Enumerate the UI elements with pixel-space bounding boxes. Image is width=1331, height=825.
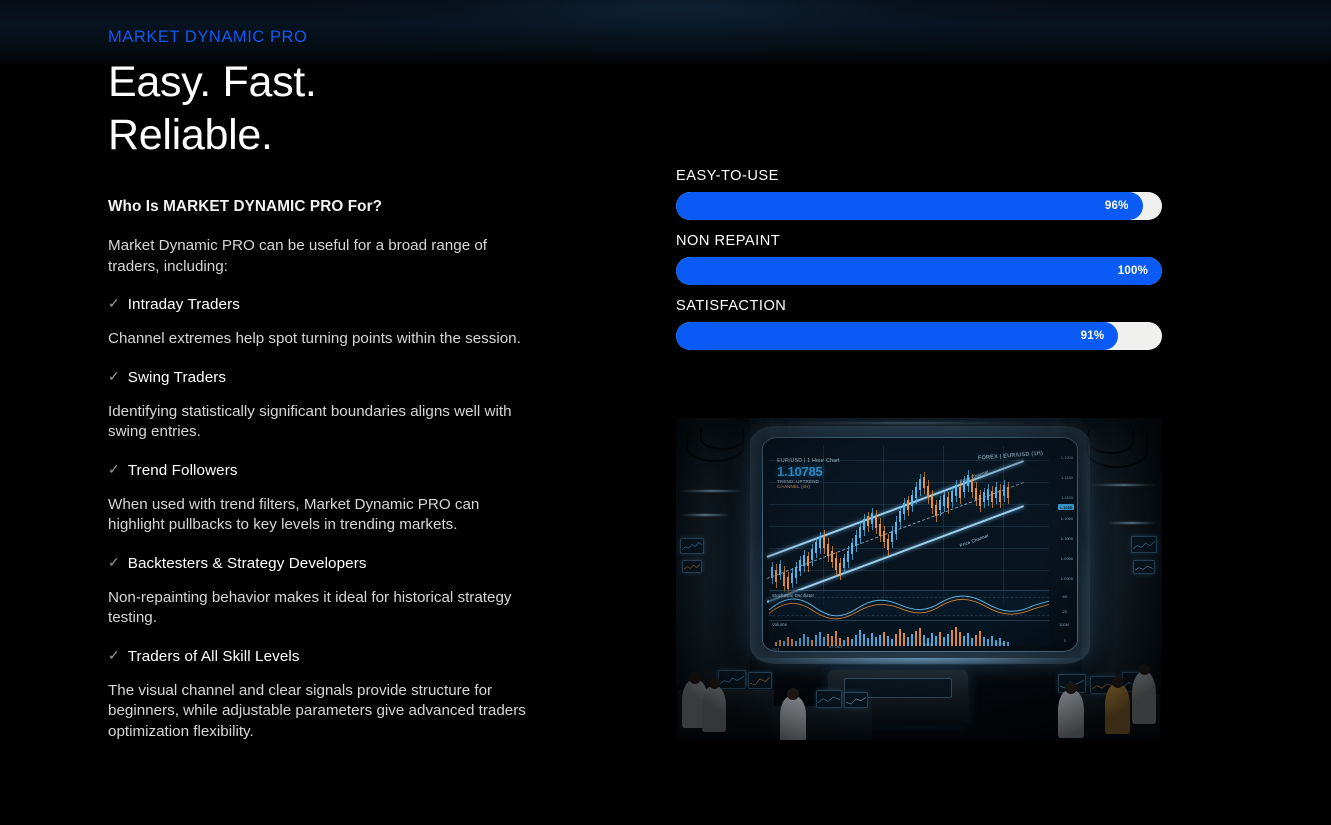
progress-value: 96% [1105, 200, 1143, 212]
candlestick [955, 480, 957, 502]
volume-bar [847, 637, 849, 646]
current-price-tag: 1.1085 [1058, 504, 1074, 510]
candlestick [1007, 482, 1009, 504]
candlestick [783, 566, 785, 592]
volume-bar [919, 628, 921, 646]
strip-light [1092, 484, 1156, 486]
candlestick [951, 486, 953, 508]
candlestick [839, 558, 841, 580]
volume-bar [959, 632, 961, 646]
desk-monitor-chart [720, 672, 744, 688]
candlestick [939, 496, 941, 516]
volume-bar [899, 629, 901, 646]
candlestick [943, 490, 945, 512]
stat-label: SATISFACTION [676, 298, 1162, 314]
audience-question: Who Is MARKET DYNAMIC PRO For? [108, 198, 548, 216]
candlestick [883, 526, 885, 548]
candlestick [811, 544, 813, 566]
candlestick [947, 492, 949, 514]
volume-panel: Volume [769, 620, 1049, 646]
volume-bar [963, 636, 965, 646]
candlestick [903, 498, 905, 520]
wall-monitor-chart [1133, 538, 1155, 552]
candlestick [859, 522, 861, 544]
candlestick [891, 526, 893, 548]
operator-head [709, 678, 720, 689]
progress-track[interactable]: 100% [676, 257, 1162, 285]
volume-bar [783, 641, 785, 646]
candlestick [863, 514, 865, 536]
volume-bar [811, 640, 813, 646]
quote-channel: CHANNEL (4H) [777, 484, 840, 489]
candlestick [879, 518, 881, 542]
check-icon: ✓ [108, 462, 120, 476]
volume-bar [843, 640, 845, 646]
check-icon: ✓ [108, 648, 120, 662]
stat-label: EASY-TO-USE [676, 168, 1162, 184]
candlestick [907, 496, 909, 516]
candlestick [875, 510, 877, 534]
candlestick [851, 538, 853, 560]
grid-line [769, 526, 1049, 527]
operator [1132, 672, 1156, 724]
stat-easy-to-use: EASY-TO-USE 96% [676, 168, 1162, 220]
candlestick [887, 534, 889, 556]
time-tick: 15:00 [923, 642, 933, 647]
list-item-description: The visual channel and clear signals pro… [108, 681, 528, 743]
strip-light [680, 490, 742, 492]
volume-bar [779, 640, 781, 646]
candlestick [775, 564, 777, 588]
quote-price: 1.10785 [777, 464, 840, 479]
strip-light [680, 514, 730, 516]
desk-monitor-chart [750, 674, 770, 688]
desk-monitor-chart [818, 692, 840, 707]
volume-bar [851, 639, 853, 646]
candlestick [843, 554, 845, 574]
candlestick [807, 552, 809, 572]
trading-floor-scene: EUR/USD | 1 Hour Chart 1.10785 TREND: UP… [676, 418, 1162, 740]
desk-monitor [816, 690, 842, 708]
candlestick [819, 532, 821, 554]
progress-fill: 91% [676, 322, 1118, 350]
holo-display-bezel: EUR/USD | 1 Hour Chart 1.10785 TREND: UP… [750, 426, 1090, 664]
list-item: ✓ Swing Traders [108, 369, 548, 386]
candlestick [923, 472, 925, 494]
candlestick [855, 530, 857, 552]
quote-overlay: EUR/USD | 1 Hour Chart 1.10785 TREND: UP… [777, 458, 840, 489]
candlestick [995, 482, 997, 504]
wall-monitor [680, 538, 704, 554]
volume-bar [971, 638, 973, 646]
stat-non-repaint: NON REPAINT 100% [676, 233, 1162, 285]
progress-track[interactable]: 96% [676, 192, 1162, 220]
candlestick [827, 538, 829, 562]
list-item-description: Identifying statistically significant bo… [108, 402, 528, 443]
volume-bar [871, 633, 873, 646]
volume-bar [859, 630, 861, 646]
operator-head [787, 688, 799, 700]
left-content-column: MARKET DYNAMIC PRO Easy. Fast. Reliable.… [108, 28, 548, 761]
candlestick [987, 484, 989, 506]
stochastic-oscillator-panel: Stochastic Oscillator [769, 590, 1049, 618]
volume-bar [819, 632, 821, 646]
operator [1105, 684, 1130, 734]
stat-label: NON REPAINT [676, 233, 1162, 249]
oscillator-tick: 20 [1063, 609, 1067, 614]
list-item-description: Channel extremes help spot turning point… [108, 329, 528, 350]
list-item: ✓ Traders of All Skill Levels [108, 648, 548, 665]
volume-bar [947, 634, 949, 646]
volume-bar [967, 633, 969, 646]
candlestick [815, 538, 817, 558]
time-tick: 27 OCT [829, 644, 843, 649]
candlestick [835, 552, 837, 576]
list-item-label: Swing Traders [128, 369, 226, 386]
operator-head [689, 672, 701, 684]
volume-tick: 100M [1059, 622, 1069, 627]
time-tick: 26 OCT [766, 647, 780, 652]
candlestick [831, 546, 833, 568]
brand-eyebrow: MARKET DYNAMIC PRO [108, 28, 548, 47]
progress-value: 91% [1081, 330, 1119, 342]
candlestick [899, 506, 901, 528]
time-tick: 20:00 [995, 641, 1005, 646]
desk-monitor-chart [846, 694, 866, 707]
progress-track[interactable]: 91% [676, 322, 1162, 350]
volume-tick: 0 [1064, 638, 1066, 643]
list-item-label: Intraday Traders [128, 296, 240, 313]
candlestick [931, 490, 933, 514]
list-item: ✓ Intraday Traders [108, 296, 548, 313]
landing-page: MARKET DYNAMIC PRO Easy. Fast. Reliable.… [0, 0, 1331, 825]
ceiling-cable [1088, 430, 1134, 454]
operator [702, 686, 726, 732]
volume-bar [875, 637, 877, 646]
oscillator-tick: 80 [1063, 594, 1067, 599]
candlestick [791, 568, 793, 588]
candlestick [803, 550, 805, 572]
stat-satisfaction: SATISFACTION 91% [676, 298, 1162, 350]
list-item-label: Trend Followers [128, 462, 238, 479]
candlestick [983, 488, 985, 508]
volume-bar [975, 635, 977, 646]
candlestick [919, 474, 921, 496]
operator-head [1065, 682, 1077, 694]
volume-bar [935, 636, 937, 646]
list-item-label: Backtesters & Strategy Developers [128, 555, 367, 572]
display-glow [756, 658, 1084, 666]
list-item-description: Non-repainting behavior makes it ideal f… [108, 588, 528, 629]
candlestick [999, 484, 1001, 508]
volume-bar [775, 642, 777, 646]
volume-bar [983, 637, 985, 646]
page-title: Easy. Fast. Reliable. [108, 56, 548, 162]
volume-bar [903, 633, 905, 646]
candlestick [871, 508, 873, 530]
desk-monitor [718, 670, 746, 689]
candlestick [935, 500, 937, 522]
candlestick [779, 560, 781, 580]
wall-monitor [1133, 560, 1155, 574]
wall-monitor-chart [682, 540, 702, 553]
operator-head [1139, 664, 1150, 675]
volume-bar [991, 636, 993, 646]
desk-monitor [844, 692, 868, 708]
candlestick [975, 482, 977, 506]
desk-monitor [748, 672, 772, 689]
list-item: ✓ Backtesters & Strategy Developers [108, 555, 548, 572]
price-tick: 1.0950 [1061, 556, 1073, 561]
strip-light [1108, 522, 1156, 524]
volume-bar [987, 639, 989, 646]
wall-monitor [682, 560, 702, 573]
price-channel-label-lower: Price Channel [959, 533, 989, 548]
volume-bar [823, 637, 825, 646]
candlestick [959, 482, 961, 504]
candlestick [991, 486, 993, 508]
progress-fill: 100% [676, 257, 1162, 285]
volume-bar [951, 630, 953, 646]
candlestick [799, 556, 801, 576]
candlestick [847, 546, 849, 568]
operator-head [1112, 676, 1124, 688]
volume-bar [815, 635, 817, 646]
ceiling-cable [700, 428, 744, 450]
volume-bar [795, 641, 797, 646]
volume-bar [883, 632, 885, 646]
check-icon: ✓ [108, 296, 120, 310]
candlestick [979, 490, 981, 512]
operator [780, 696, 806, 740]
list-item-label: Traders of All Skill Levels [128, 648, 300, 665]
check-icon: ✓ [108, 369, 120, 383]
candlestick [911, 490, 913, 512]
candlestick [927, 480, 929, 504]
progress-fill: 96% [676, 192, 1143, 220]
candlestick [795, 562, 797, 584]
volume-bar [803, 634, 805, 646]
audience-intro: Market Dynamic PRO can be useful for a b… [108, 236, 528, 277]
wall-monitor [1131, 536, 1157, 553]
list-item-description: When used with trend filters, Market Dyn… [108, 495, 528, 536]
progress-value: 100% [1118, 265, 1162, 277]
price-tick: 1.1100 [1061, 495, 1073, 500]
list-item: ✓ Trend Followers [108, 462, 548, 479]
volume-bar [791, 639, 793, 646]
volume-bar [891, 639, 893, 646]
volume-bar [787, 637, 789, 646]
price-tick: 1.1150 [1061, 475, 1073, 480]
price-tick: 1.1200 [1061, 455, 1073, 460]
volume-bar [1007, 642, 1009, 646]
operator [1058, 690, 1084, 738]
volume-bar [979, 631, 981, 646]
volume-bar [915, 631, 917, 646]
volume-bar [907, 637, 909, 646]
candlestick [1003, 480, 1005, 502]
volume-bar [887, 636, 889, 646]
price-tick: 1.1000 [1061, 536, 1073, 541]
strip-light [786, 422, 1026, 424]
candlestick [895, 516, 897, 540]
grid-line [769, 570, 1049, 571]
volume-bar [807, 637, 809, 646]
hero-image: EUR/USD | 1 Hour Chart 1.10785 TREND: UP… [676, 418, 1162, 740]
volume-bar [879, 635, 881, 646]
volume-bar [863, 634, 865, 646]
volume-label: Volume [772, 622, 787, 627]
volume-bar [799, 638, 801, 646]
volume-bar [855, 635, 857, 646]
wall-monitor-chart [1135, 562, 1153, 573]
volume-bar [867, 638, 869, 646]
price-tick: 1.0900 [1061, 576, 1073, 581]
chart-surface: EUR/USD | 1 Hour Chart 1.10785 TREND: UP… [763, 438, 1077, 651]
candlestick [915, 482, 917, 504]
volume-bar [955, 627, 957, 646]
candlestick [867, 512, 869, 532]
volume-bar [943, 637, 945, 646]
candlestick [771, 562, 773, 584]
volume-bar [895, 634, 897, 646]
check-icon: ✓ [108, 555, 120, 569]
candlestick [823, 530, 825, 554]
wall-monitor-chart [684, 562, 700, 572]
volume-bar [911, 634, 913, 646]
oscillator-label: Stochastic Oscillator [772, 593, 814, 598]
price-tick: 1.1050 [1061, 516, 1073, 521]
volume-bar [939, 632, 941, 646]
stats-column: EASY-TO-USE 96% NON REPAINT 100% SATISFA… [676, 168, 1162, 350]
holo-display-screen: EUR/USD | 1 Hour Chart 1.10785 TREND: UP… [762, 437, 1078, 652]
